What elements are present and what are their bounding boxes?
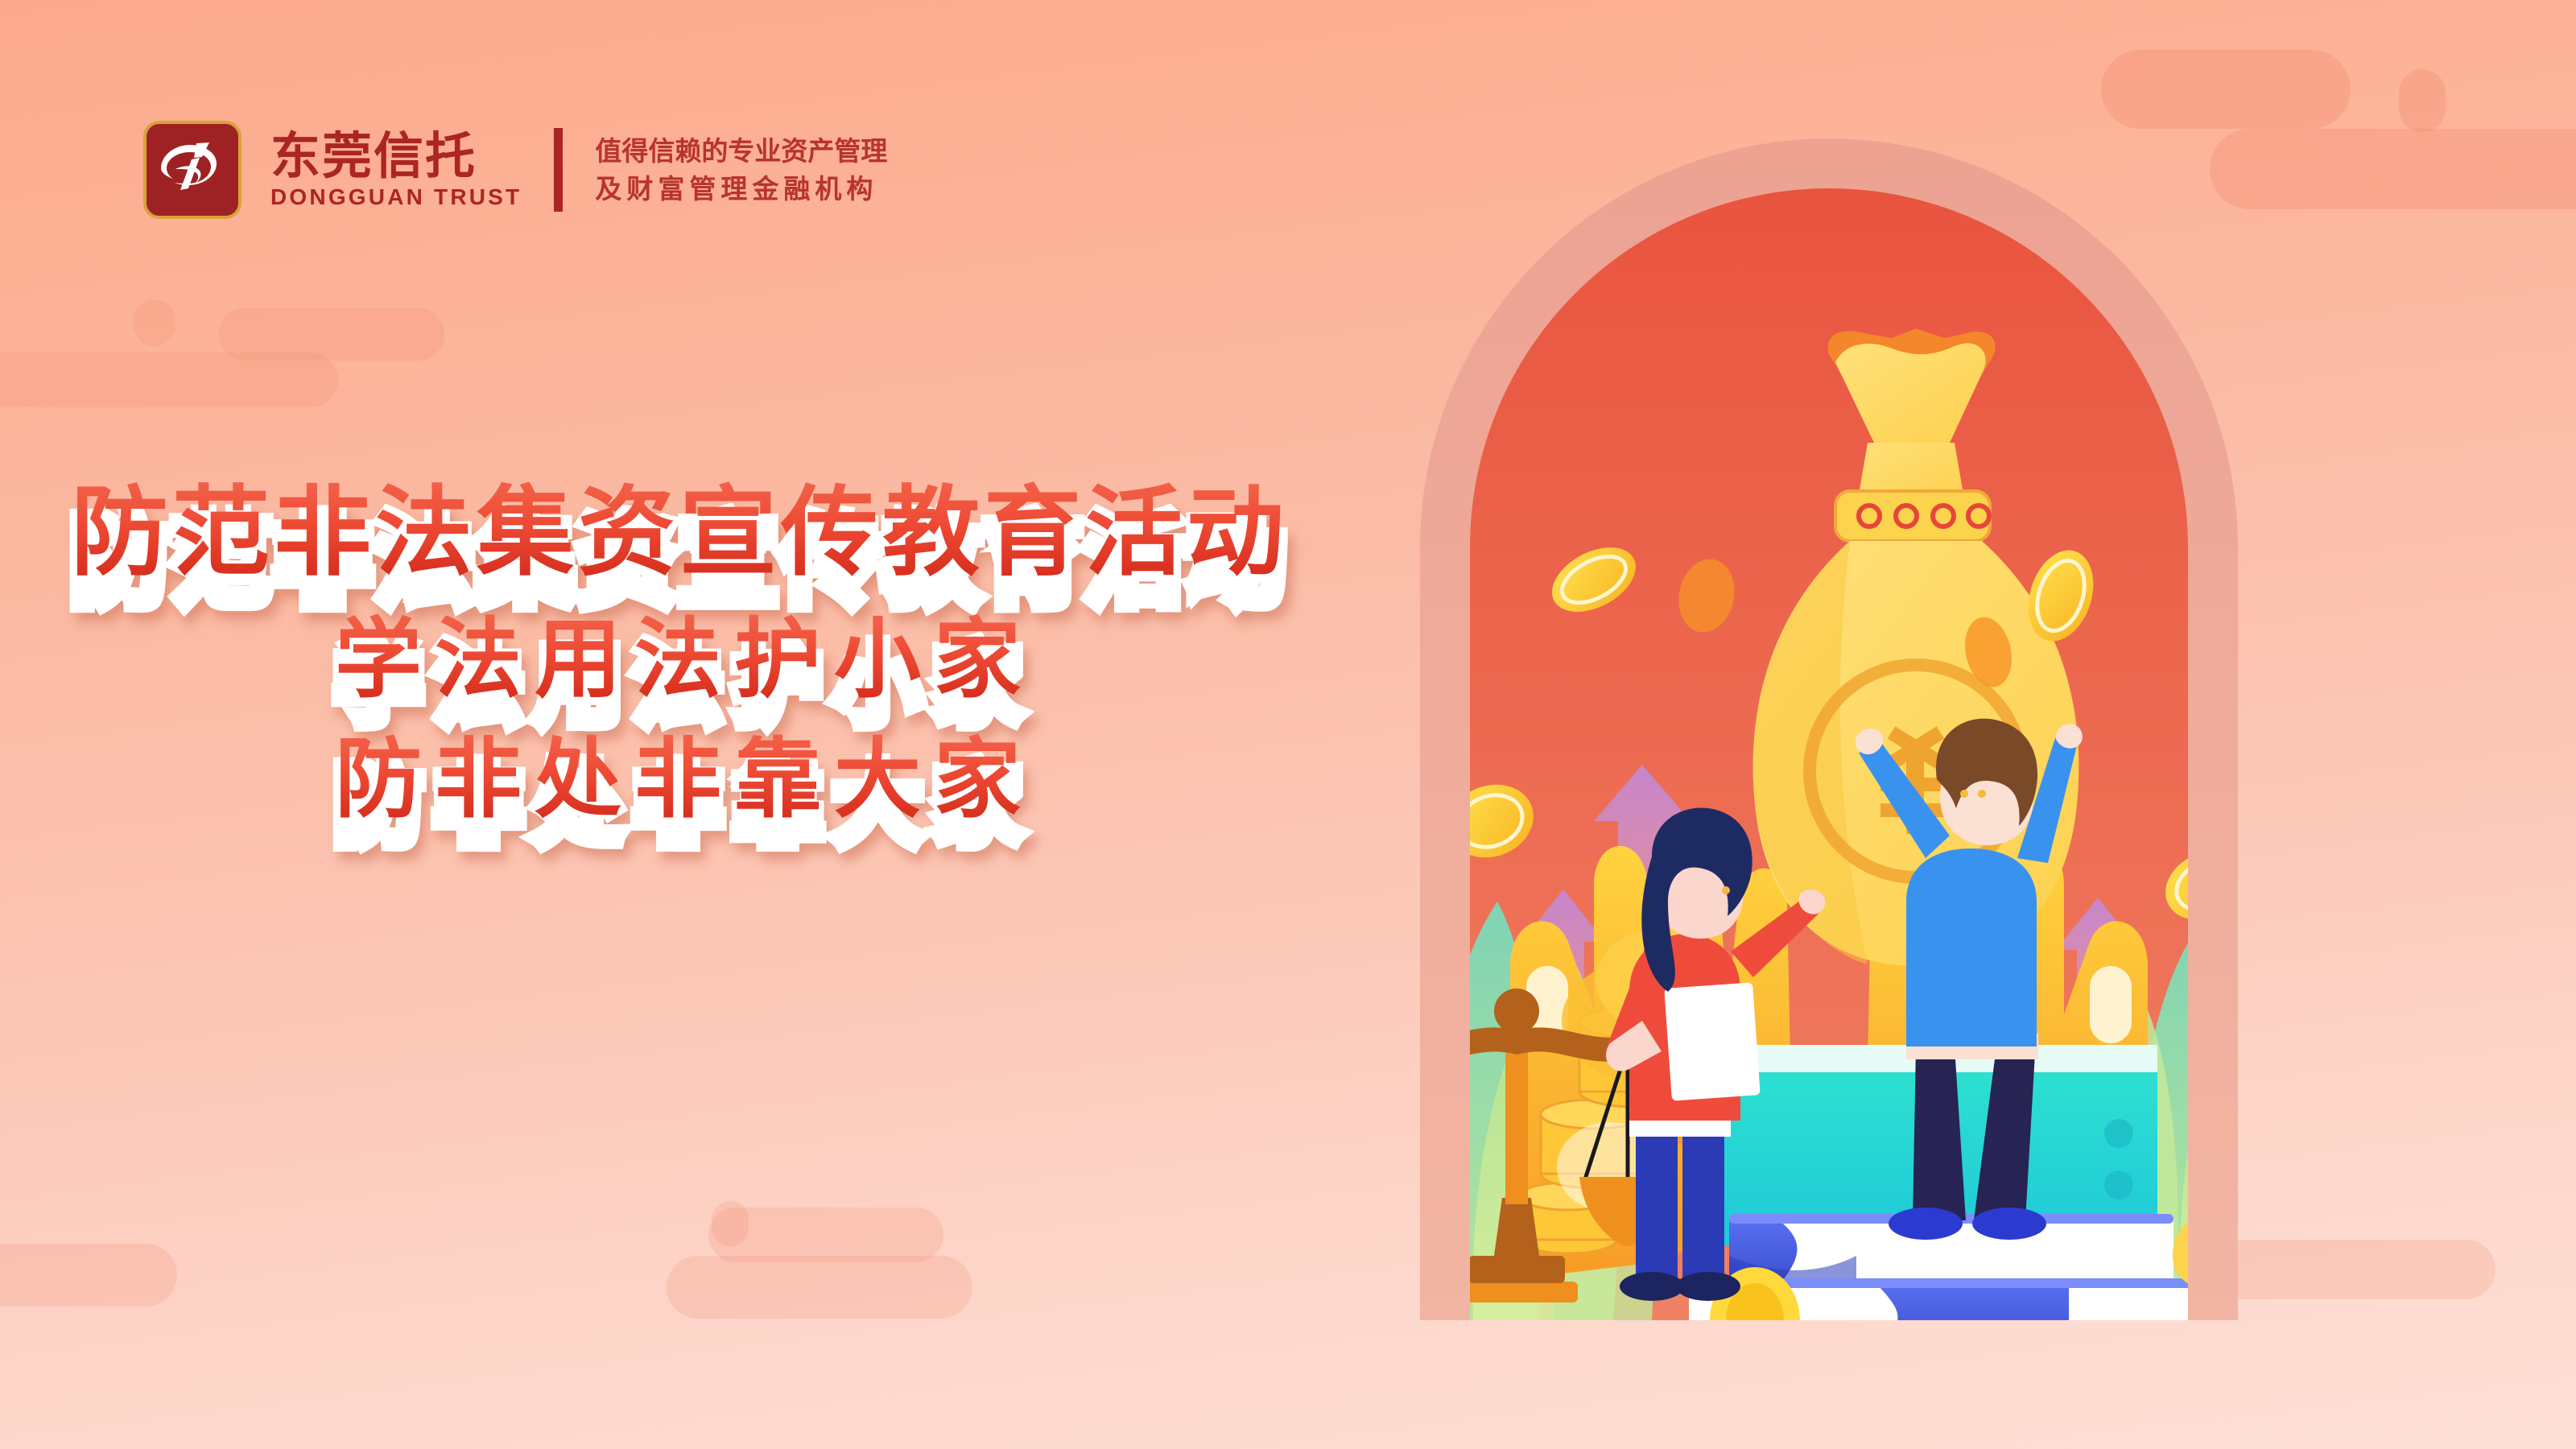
headline-row-3: 防非处非靠大家 防非处非靠大家 <box>0 736 1368 824</box>
deco-dot-left <box>134 299 175 346</box>
headline-row-1: 防范非法集资宣传教育活动 防范非法集资宣传教育活动 <box>0 483 1368 582</box>
headline-line-2: 学法用法护小家 <box>335 609 1034 710</box>
divider <box>554 128 563 212</box>
headline-line-1: 防范非法集资宣传教育活动 <box>71 476 1288 589</box>
brand-header: 东莞信托 DONGGUAN TRUST 值得信赖的专业资产管理 及财富管理金融机… <box>143 121 887 219</box>
poster-canvas: 东莞信托 DONGGUAN TRUST 值得信赖的专业资产管理 及财富管理金融机… <box>0 0 2576 1449</box>
headline-block: 防范非法集资宣传教育活动 防范非法集资宣传教育活动 学法用法护小家 学法用法护小… <box>0 483 1368 824</box>
headline-row-2: 学法用法护小家 学法用法护小家 <box>0 616 1368 704</box>
deco-dot-bottom <box>712 1201 749 1246</box>
brand-name-cn: 东莞信托 <box>270 131 522 181</box>
brand-tagline: 值得信赖的专业资产管理 及财富管理金融机构 <box>595 138 887 202</box>
logo-icon <box>143 121 242 219</box>
deco-pill-far-left <box>0 1244 177 1307</box>
tagline-line-1: 值得信赖的专业资产管理 <box>595 138 887 164</box>
headline-line-3: 防非处非靠大家 <box>335 729 1034 830</box>
brand-wordmark: 东莞信托 DONGGUAN TRUST <box>270 131 522 208</box>
deco-pill-bottom-2 <box>667 1256 972 1319</box>
illustration <box>1352 97 2544 1320</box>
deco-pill-left-2 <box>0 353 338 407</box>
brand-name-en: DONGGUAN TRUST <box>270 186 522 208</box>
tagline-line-2: 及财富管理金融机构 <box>595 175 887 202</box>
